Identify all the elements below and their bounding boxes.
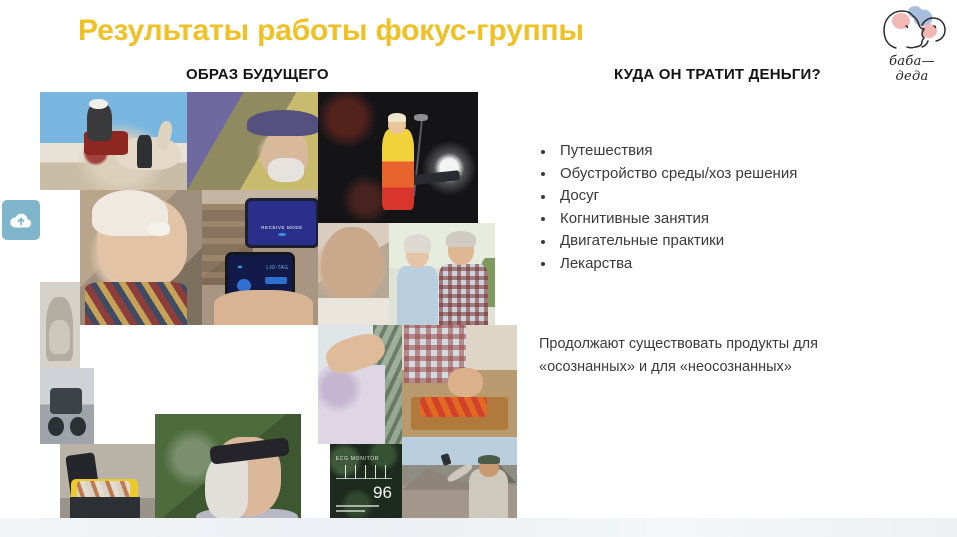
receive-mode-label: RECEIVE MODE xyxy=(248,225,315,230)
list-item: Двигательные практики xyxy=(538,230,898,253)
list-item: Досуг xyxy=(538,185,898,208)
conclusion-paragraph: Продолжают существовать продукты для «ос… xyxy=(539,333,913,379)
statue-bust-photo xyxy=(40,282,80,368)
elderly-man-hat-photo xyxy=(187,92,318,192)
cloud-upload-badge[interactable] xyxy=(2,200,40,240)
paragraph-line-1: Продолжают существовать продукты для xyxy=(539,336,818,352)
bottom-strip xyxy=(0,518,957,537)
list-item: Когнитивные занятия xyxy=(538,208,898,231)
list-item: Путешествия xyxy=(538,140,898,163)
slide: Результаты работы фокус-группы ОБРАЗ БУД… xyxy=(0,0,957,537)
wifi-icon: ◓ xyxy=(237,263,244,274)
concert-singer-photo xyxy=(318,92,478,223)
heading-spending: КУДА ОН ТРАТИТ ДЕНЬГИ? xyxy=(614,66,821,83)
heading-future-image: ОБРАЗ БУДУЩЕГО xyxy=(186,66,329,83)
hearing-device-photo xyxy=(80,190,202,325)
tablet-screen: ◓ LID-TAG xyxy=(228,255,293,301)
brand-logo: баба—деда xyxy=(866,2,954,80)
paragraph-line-2: «осознанных» и для «неосознанных» xyxy=(539,356,913,379)
senior-couple-photo xyxy=(389,223,495,325)
cloud-upload-icon xyxy=(9,211,33,229)
photo-collage: RECEIVE MODE ◓ LID-TAG xyxy=(22,92,495,506)
back-of-head-photo xyxy=(318,223,389,325)
dining-couple-photo xyxy=(318,325,402,444)
ecg-monitor-label: ECG MONITOR xyxy=(336,456,379,462)
two-faces-logo-icon xyxy=(866,2,954,58)
lid-tag-label: LID-TAG xyxy=(266,265,288,271)
cooking-hands-photo xyxy=(402,325,517,437)
tablet-device-photo: RECEIVE MODE ◓ LID-TAG xyxy=(202,190,318,325)
mobility-chair-photo xyxy=(40,368,94,444)
logo-wordmark: баба—деда xyxy=(874,54,950,84)
home-icon xyxy=(237,279,251,293)
mountain-selfie-photo xyxy=(402,437,517,520)
page-title: Результаты работы фокус-группы xyxy=(78,14,584,48)
ecg-monitor-photo: ECG MONITOR 96 xyxy=(330,444,402,520)
ecg-heart-rate-value: 96 xyxy=(373,484,392,501)
list-item: Лекарства xyxy=(538,253,898,276)
list-item: Обустройство среды/хоз решения xyxy=(538,163,898,186)
camel-ride-photo xyxy=(40,92,187,190)
receive-mode-screen: RECEIVE MODE xyxy=(248,201,315,246)
spending-bullet-list: Путешествия Обустройство среды/хоз решен… xyxy=(538,140,898,275)
